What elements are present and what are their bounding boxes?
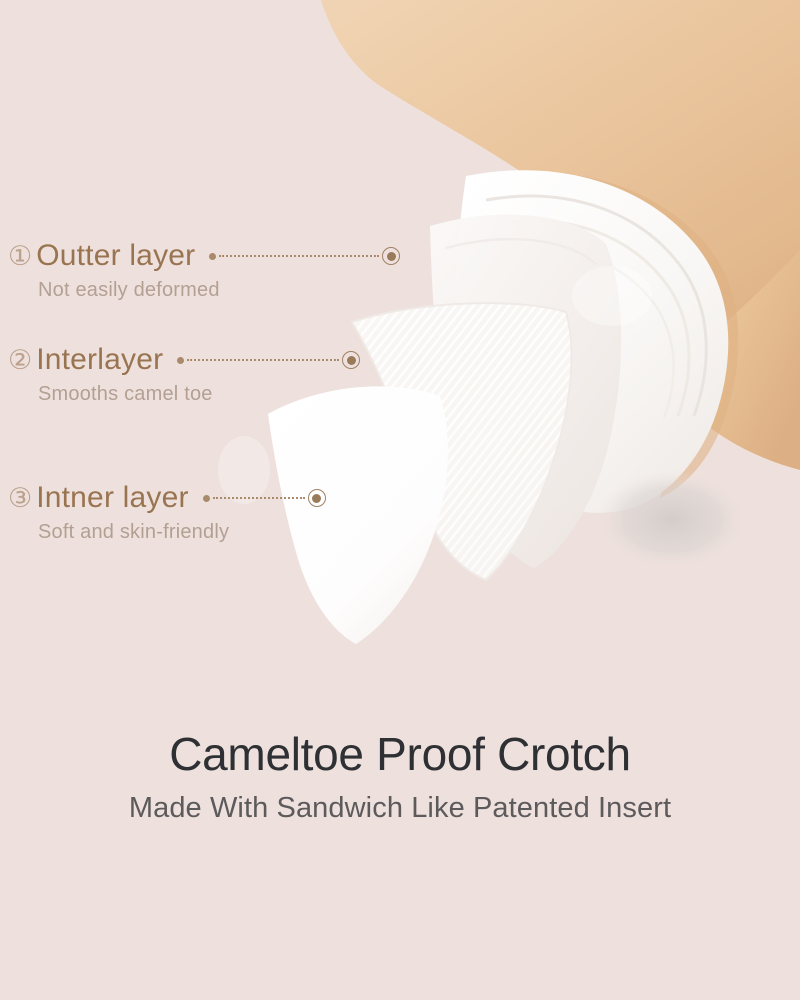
connector-dotted-line (213, 497, 305, 499)
target-marker-icon (308, 489, 326, 507)
product-infographic: ① Outter layer Not easily deformed ② Int… (0, 0, 800, 1000)
connector-start-dot (203, 495, 210, 502)
callout-title-row: ② Interlayer (8, 340, 528, 380)
target-marker-icon (382, 247, 400, 265)
connector-start-dot (209, 253, 216, 260)
callout-subtitle-1: Not easily deformed (38, 279, 528, 302)
connector-line-1 (209, 247, 400, 265)
connector-line-3 (203, 489, 326, 507)
callout-number-2: ② (8, 347, 32, 374)
callout-subtitle-3: Soft and skin-friendly (38, 521, 528, 544)
target-marker-icon (342, 351, 360, 369)
connector-dotted-line (187, 359, 339, 361)
callout-interlayer: ② Interlayer Smooths camel toe (8, 340, 528, 406)
callout-title-3: Intner layer (36, 481, 188, 515)
connector-line-2 (177, 351, 360, 369)
subheadline: Made With Sandwich Like Patented Insert (0, 791, 800, 826)
headline: Cameltoe Proof Crotch (0, 728, 800, 781)
callout-title-row: ③ Intner layer (8, 478, 528, 518)
connector-dotted-line (219, 255, 379, 257)
bottom-text-block: Cameltoe Proof Crotch Made With Sandwich… (0, 728, 800, 826)
callout-subtitle-2: Smooths camel toe (38, 383, 528, 406)
callout-title-1: Outter layer (36, 239, 195, 273)
drop-shadow (596, 470, 748, 570)
callout-title-2: Interlayer (36, 343, 163, 377)
callout-number-3: ③ (8, 485, 32, 512)
callout-intner-layer: ③ Intner layer Soft and skin-friendly (8, 478, 528, 544)
callout-outter-layer: ① Outter layer Not easily deformed (8, 236, 528, 302)
callout-title-row: ① Outter layer (8, 236, 528, 276)
connector-start-dot (177, 357, 184, 364)
callout-number-1: ① (8, 243, 32, 270)
